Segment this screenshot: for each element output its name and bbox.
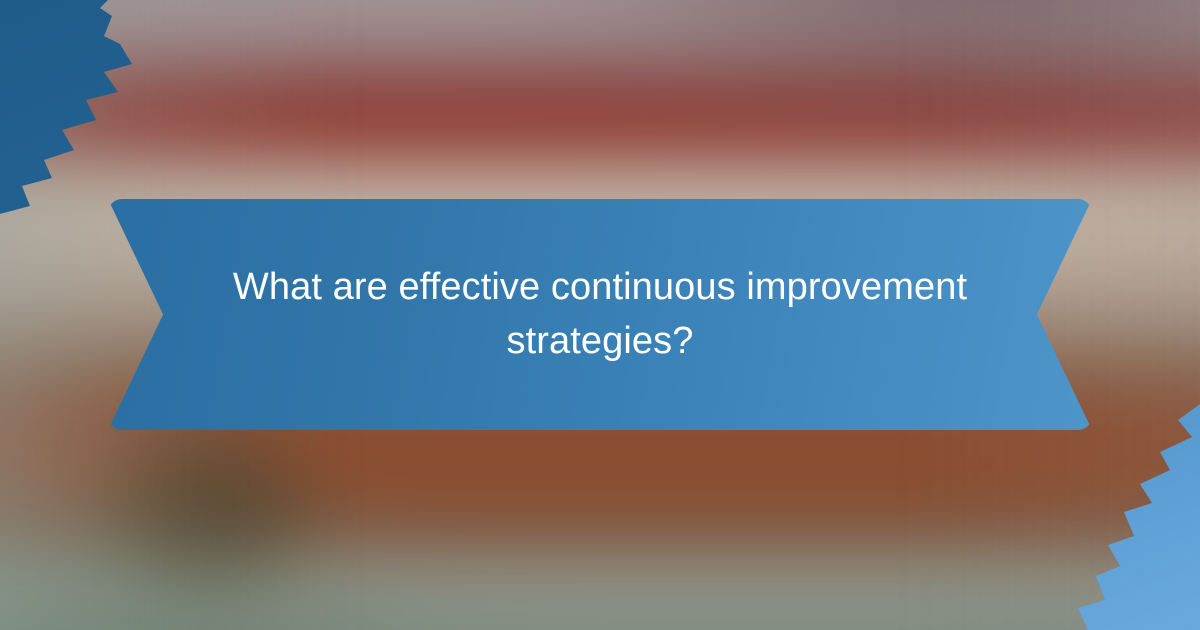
question-card: What are effective continuous improvemen… bbox=[0, 0, 1200, 630]
question-text: What are effective continuous improvemen… bbox=[170, 199, 1030, 430]
